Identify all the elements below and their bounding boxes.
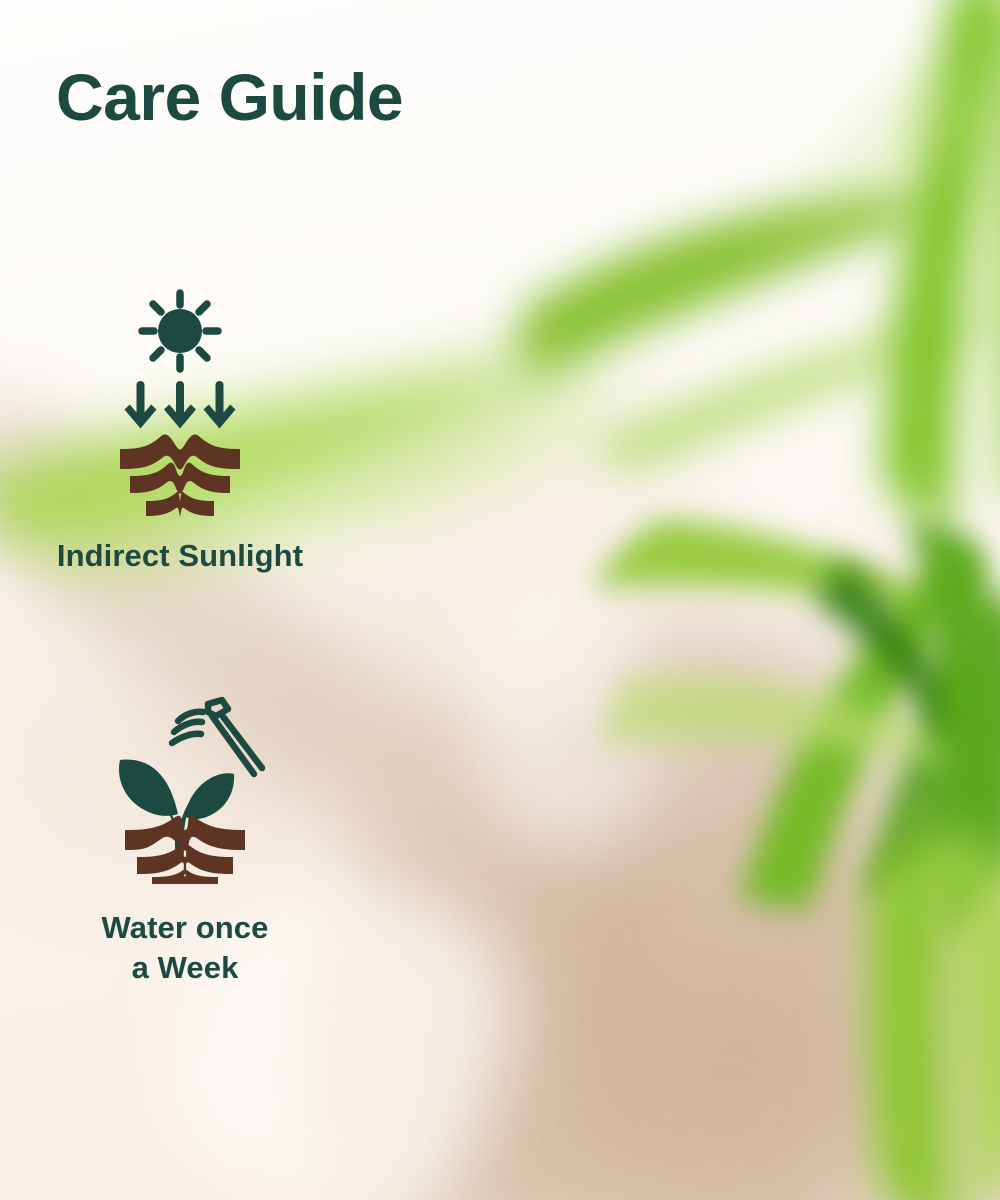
care-item-indirect-sunlight[interactable]: Indirect Sunlight [30,286,330,576]
card-content: Care Guide [0,0,1000,1200]
care-item-label-line: a Week [35,948,335,988]
care-item-label: Indirect Sunlight [30,536,330,576]
care-guide-card: Care Guide [0,0,1000,1200]
watering-seedling-soil-icon [104,694,266,884]
care-item-water-once-a-week[interactable]: Water once a Week [35,694,335,987]
sun-arrows-soil-icon [118,286,242,522]
care-item-label-line: Water once [35,908,335,948]
page-title: Care Guide [56,64,403,130]
care-item-label: Water once a Week [35,908,335,987]
